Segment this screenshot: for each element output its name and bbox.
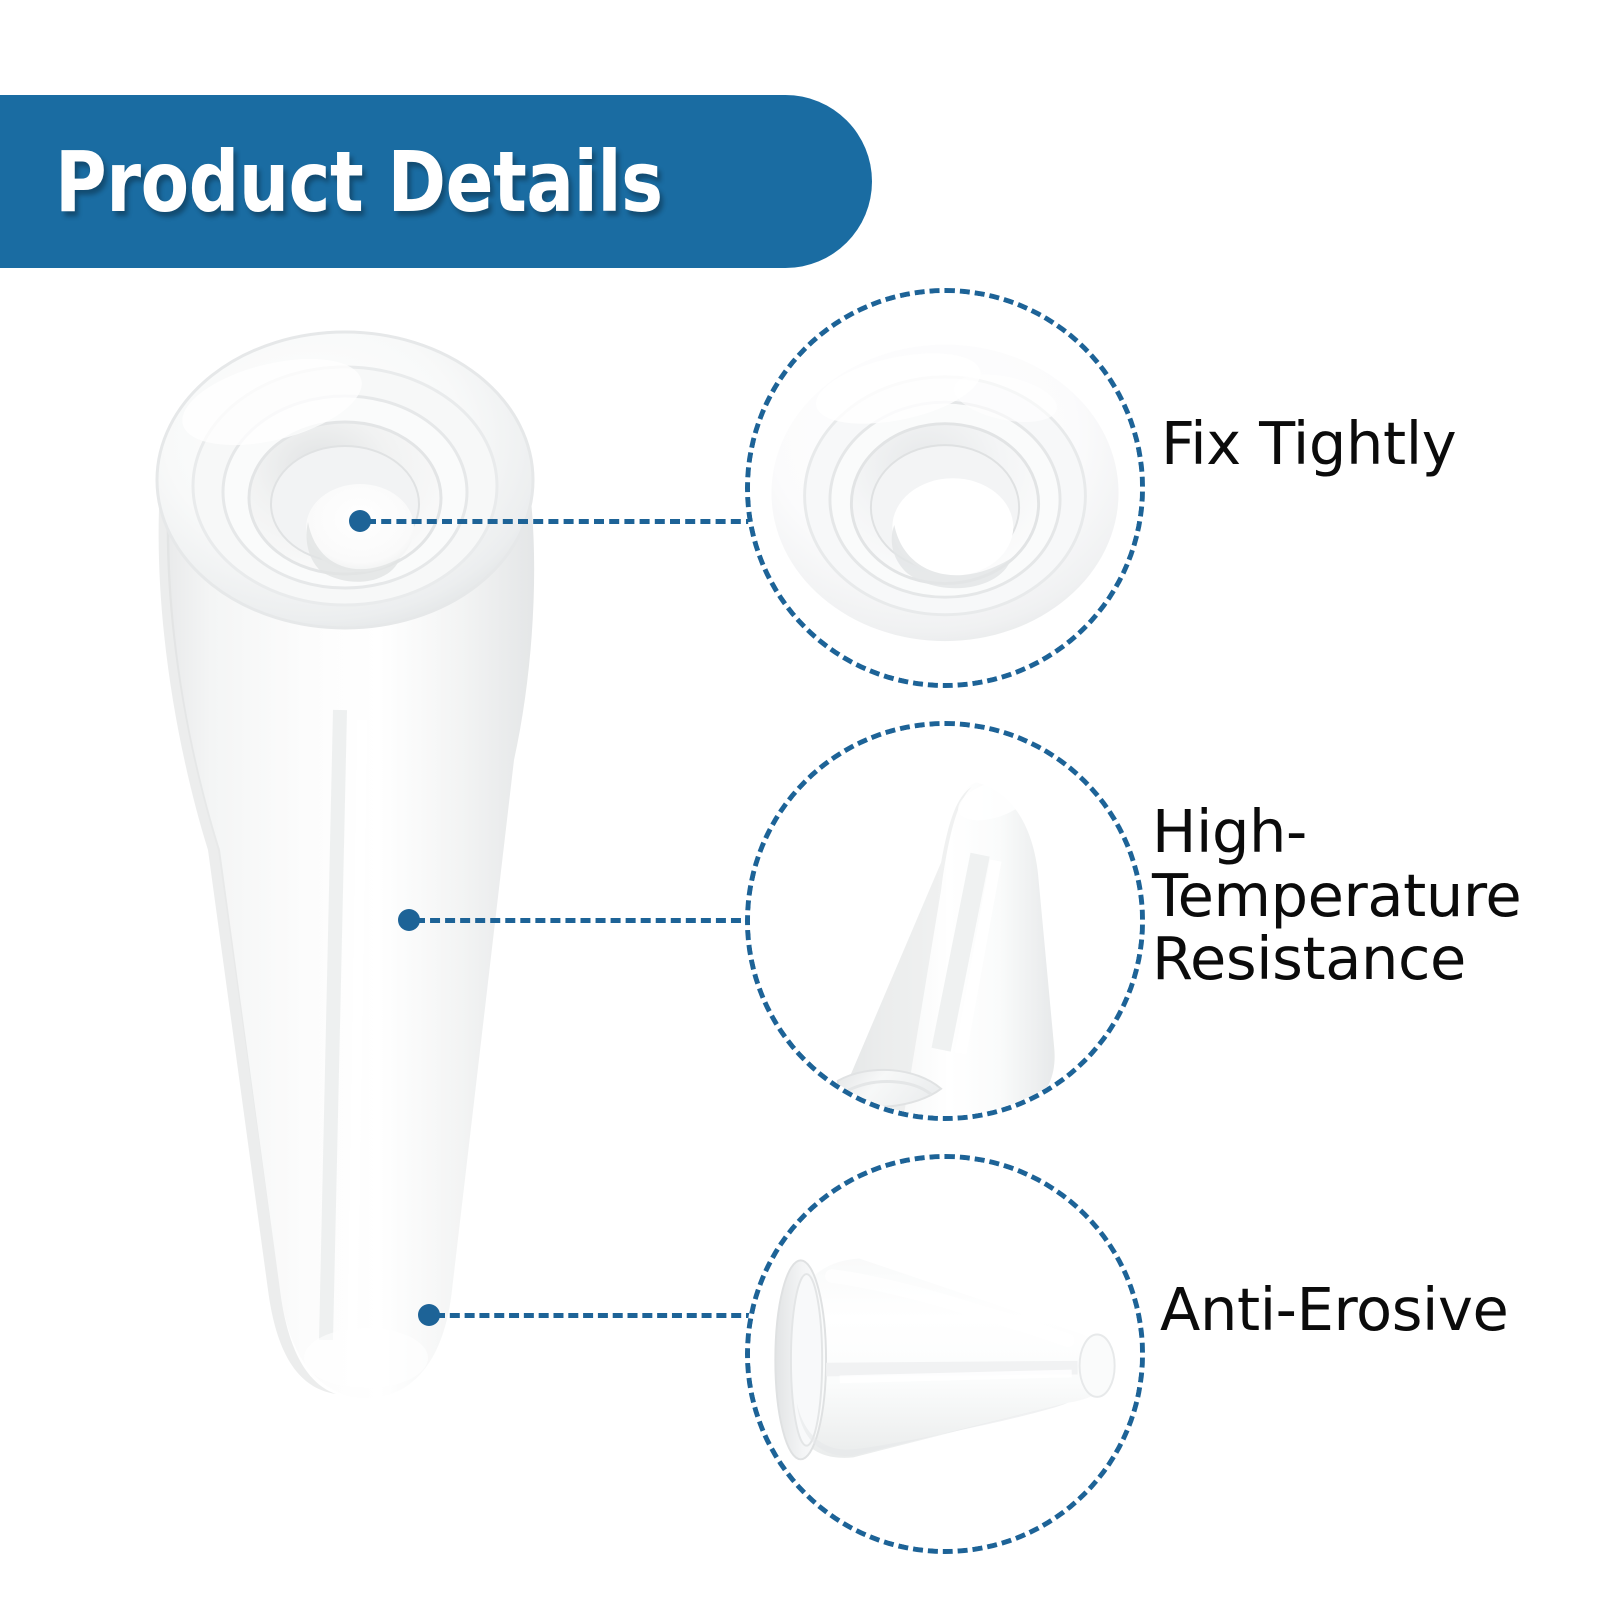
callout-label-fix-tightly: Fix Tightly [1161,412,1456,476]
callout-label-anti-erosive: Anti-Erosive [1160,1278,1508,1342]
infographic-canvas: Product Details [0,0,1600,1600]
leader-line-1 [366,519,756,524]
page-title: Product Details [55,140,663,224]
leader-dot-1 [349,510,371,532]
leader-line-2 [415,918,756,923]
leader-line-3 [435,1313,756,1318]
detail-circle-fix-tightly [745,288,1145,688]
leader-dot-3 [418,1304,440,1326]
header-banner: Product Details [0,95,872,268]
product-hero-image [40,290,660,1430]
detail-circle-high-temperature-resistance [745,721,1145,1121]
leader-dot-2 [398,909,420,931]
callout-label-high-temperature-resistance: High- Temperature Resistance [1152,800,1521,991]
detail-circle-anti-erosive [745,1154,1145,1554]
